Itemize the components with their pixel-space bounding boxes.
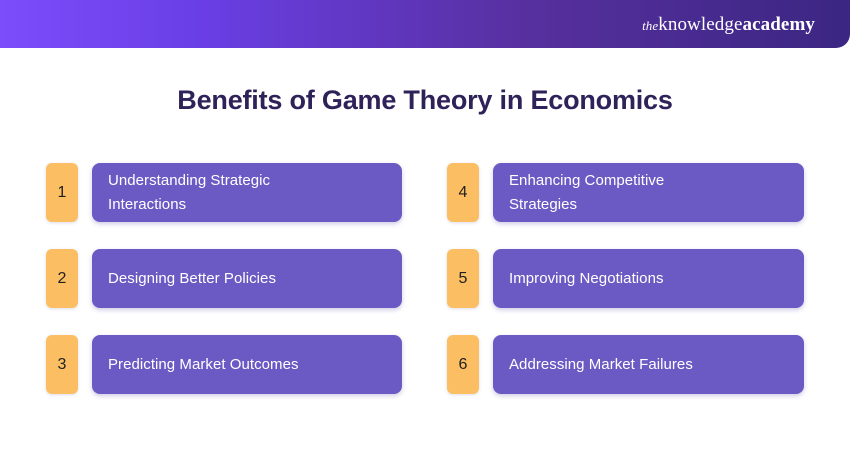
benefit-number-badge: 5 [447,249,479,308]
benefit-label: Improving Negotiations [509,267,664,290]
benefit-number-badge: 1 [46,163,78,222]
benefit-number-badge: 6 [447,335,479,394]
benefit-label: Addressing Market Failures [509,353,693,376]
benefit-number-badge: 4 [447,163,479,222]
benefit-label: Predicting Market Outcomes [108,353,299,376]
benefit-item-6[interactable]: 6 Addressing Market Failures [447,335,804,394]
benefit-item-2[interactable]: 2 Designing Better Policies [46,249,402,308]
benefit-card[interactable]: Addressing Market Failures [493,335,804,394]
benefit-number-badge: 3 [46,335,78,394]
benefit-card[interactable]: Understanding Strategic Interactions [92,163,402,222]
benefit-card[interactable]: Enhancing Competitive Strategies [493,163,804,222]
benefit-card[interactable]: Improving Negotiations [493,249,804,308]
brand-knowledge: knowledge [658,14,742,35]
brand-academy: academy [743,14,815,35]
benefit-item-1[interactable]: 1 Understanding Strategic Interactions [46,163,402,222]
benefit-label: Enhancing Competitive Strategies [509,169,724,216]
brand-logo: theknowledgeacademy [642,15,815,34]
brand-prefix: the [642,18,658,33]
benefit-label: Understanding Strategic Interactions [108,169,323,216]
benefit-card[interactable]: Predicting Market Outcomes [92,335,402,394]
header-bar: theknowledgeacademy [0,0,850,48]
benefit-number-badge: 2 [46,249,78,308]
benefit-item-5[interactable]: 5 Improving Negotiations [447,249,804,308]
benefit-label: Designing Better Policies [108,267,276,290]
benefit-item-4[interactable]: 4 Enhancing Competitive Strategies [447,163,804,222]
benefits-grid: 1 Understanding Strategic Interactions 2… [46,163,804,394]
benefit-item-3[interactable]: 3 Predicting Market Outcomes [46,335,402,394]
page-title: Benefits of Game Theory in Economics [0,84,850,116]
benefit-card[interactable]: Designing Better Policies [92,249,402,308]
